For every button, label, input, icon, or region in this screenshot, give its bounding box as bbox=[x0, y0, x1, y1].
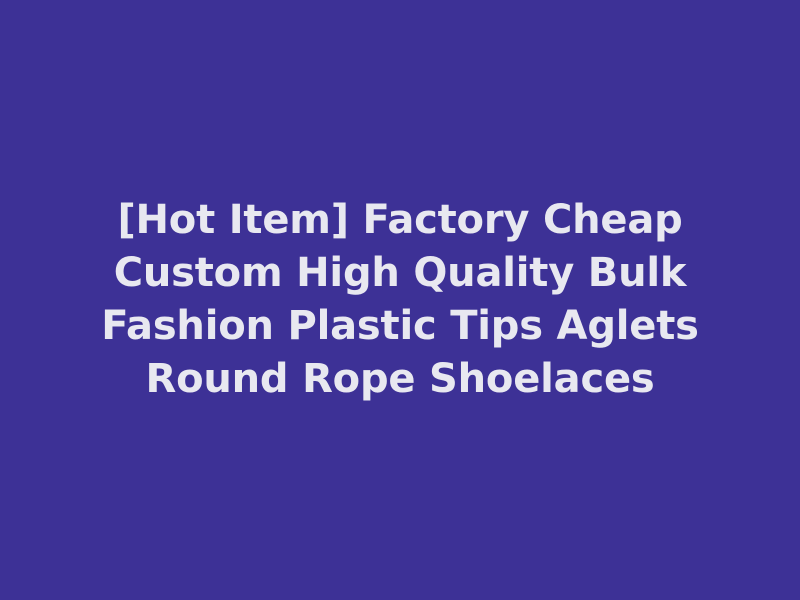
product-title-card: [Hot Item] Factory Cheap Custom High Qua… bbox=[0, 0, 800, 600]
product-title: [Hot Item] Factory Cheap Custom High Qua… bbox=[45, 194, 755, 406]
